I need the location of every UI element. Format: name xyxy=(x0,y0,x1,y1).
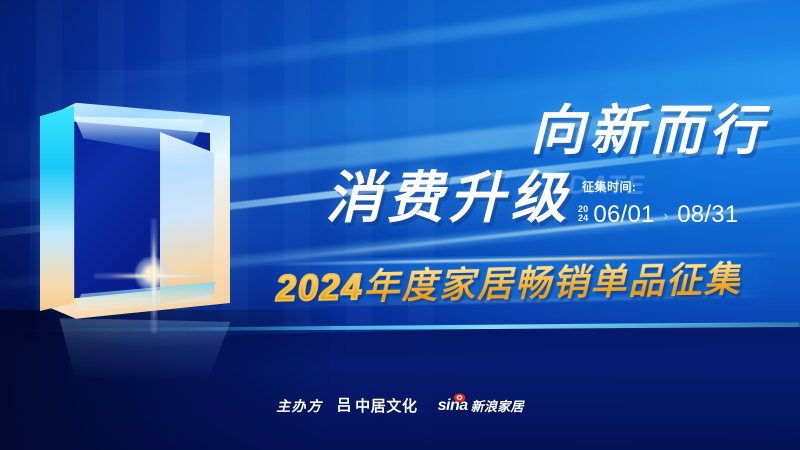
date-block: DATE 征集时间: 20 24 06/01 › 08/31 xyxy=(576,178,786,229)
sponsor-bar: 主办方 吕 中居文化 sina 新浪家居 xyxy=(0,395,800,416)
promo-poster: 向新而行 消费升级 DATE 征集时间: 20 24 06/01 › 08/31… xyxy=(0,0,800,450)
date-label: 征集时间: xyxy=(582,178,786,195)
headline-line-2: 消费升级 xyxy=(248,170,572,226)
date-year: 20 24 xyxy=(578,205,588,225)
light-burst-icon xyxy=(152,274,156,278)
portal-reflection xyxy=(48,318,238,382)
door-portal-graphic xyxy=(40,96,240,321)
date-year-bottom: 24 xyxy=(578,214,588,223)
subtitle-text: 2024年度家居畅销单品征集 xyxy=(276,250,742,311)
sponsor-logo-sina[interactable]: sina 新浪家居 xyxy=(438,396,524,415)
sina-jiaju-name: 新浪家居 xyxy=(471,396,524,415)
date-range: 06/01 › 08/31 xyxy=(593,201,738,229)
light-streak-upper xyxy=(96,0,800,86)
sponsor-label: 主办方 xyxy=(276,396,322,416)
sina-eye-icon xyxy=(453,390,466,400)
zhongju-mark-icon: 吕 xyxy=(336,398,351,413)
date-start: 06/01 xyxy=(593,201,654,229)
date-end: 08/31 xyxy=(677,201,738,229)
subtitle-rest: 年度家居畅销单品征集 xyxy=(363,258,742,307)
zhongju-name: 中居文化 xyxy=(355,395,417,416)
sina-logo: sina xyxy=(438,397,468,415)
portal-left-side xyxy=(40,106,74,311)
date-separator-icon: › xyxy=(664,208,669,223)
subtitle-year: 2024 xyxy=(276,266,364,309)
subtitle-bar: 2024年度家居畅销单品征集 xyxy=(268,252,780,304)
date-range-row: 20 24 06/01 › 08/31 xyxy=(578,201,786,229)
sponsor-logo-zhongju[interactable]: 吕 中居文化 xyxy=(336,395,417,416)
headline-line-1: 向新而行 xyxy=(248,104,768,158)
